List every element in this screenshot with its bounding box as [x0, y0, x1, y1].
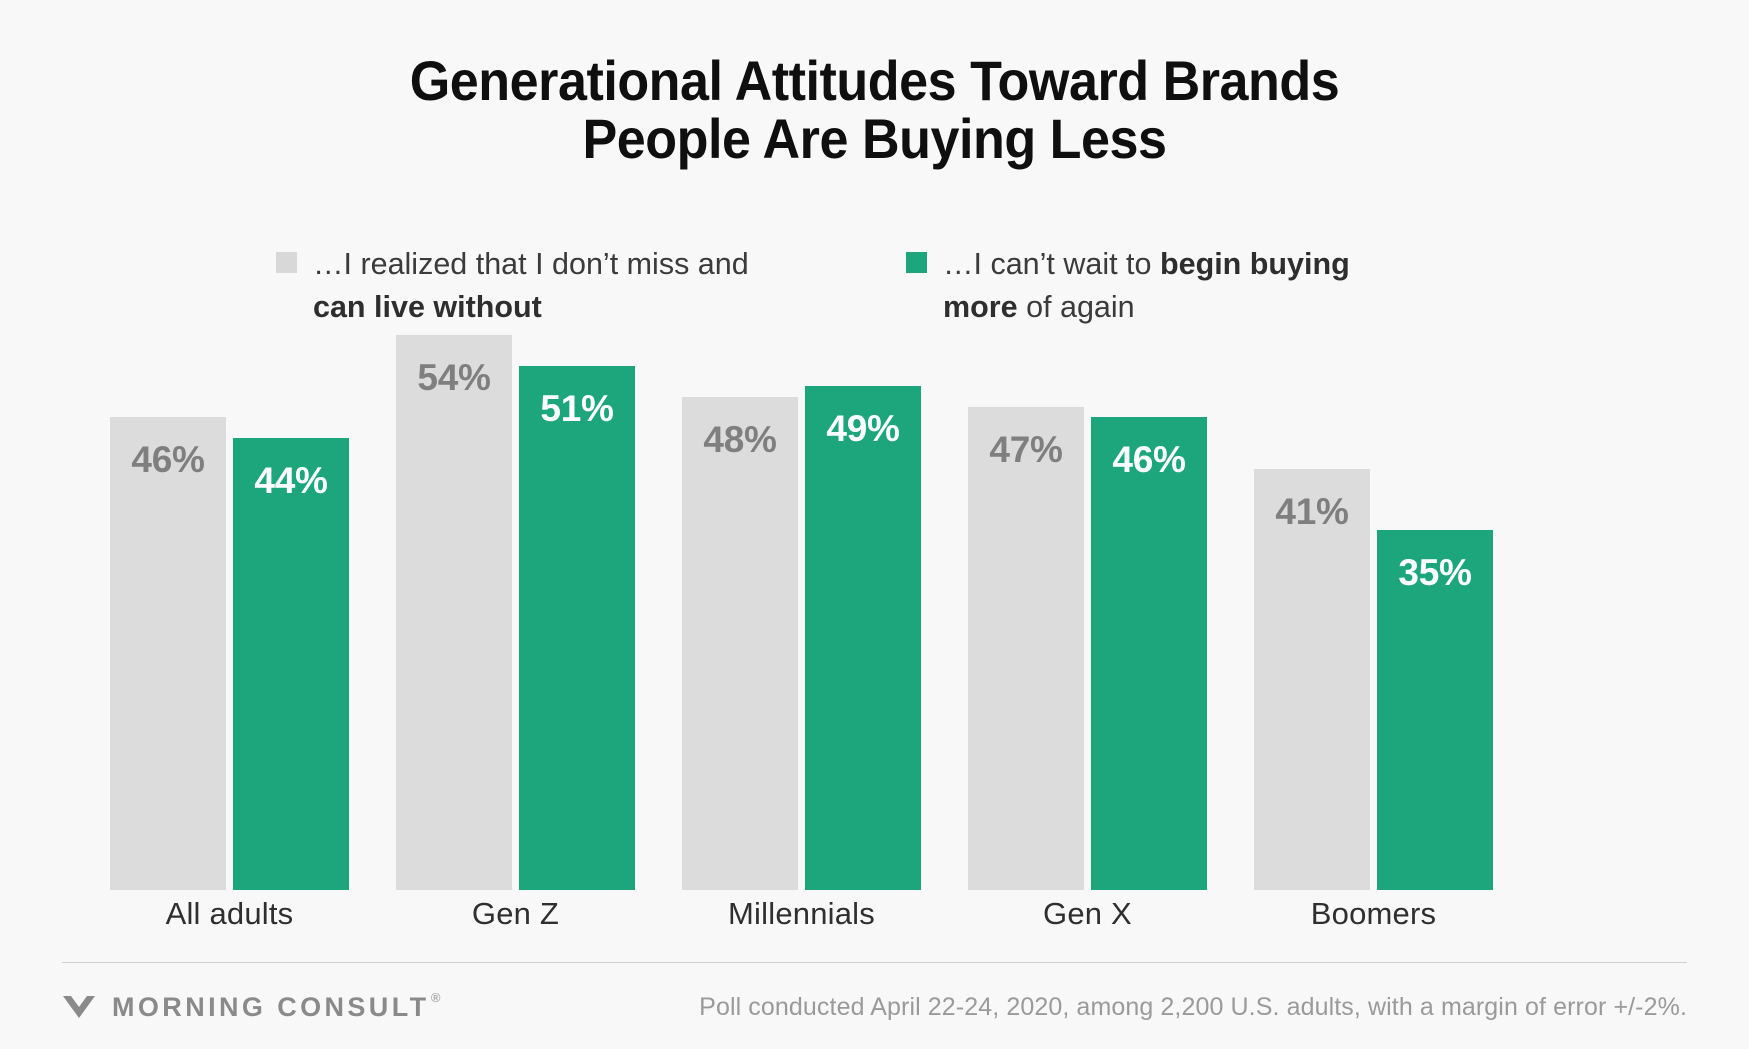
legend-item-gray[interactable]: …I realized that I don’t miss and can li…: [276, 243, 796, 330]
bar-value-label: 44%: [233, 460, 349, 502]
legend-gray-text-part1: …I realized that I don’t miss and: [313, 247, 749, 281]
bar-green[interactable]: 44%: [233, 438, 349, 890]
bar-gray[interactable]: 48%: [682, 397, 798, 890]
bar-gray[interactable]: 46%: [110, 417, 226, 890]
category-label: Gen X: [968, 896, 1207, 932]
legend-item-green[interactable]: …I can’t wait to begin buying more of ag…: [906, 243, 1426, 330]
bar-green[interactable]: 51%: [519, 366, 635, 890]
chart-title-line-1: Generational Attitudes Toward Brands: [61, 52, 1688, 110]
bar-value-label: 48%: [682, 419, 798, 461]
bar-group-all-adults: 46%44%All adults: [110, 330, 349, 890]
legend-swatch-gray-icon: [276, 252, 297, 273]
category-label: Millennials: [682, 896, 921, 932]
bar-value-label: 54%: [396, 357, 512, 399]
legend-swatch-green-icon: [906, 252, 927, 273]
bar-value-label: 46%: [110, 439, 226, 481]
bar-group-gen-z: 54%51%Gen Z: [396, 330, 635, 890]
bar-group-gen-x: 47%46%Gen X: [968, 330, 1207, 890]
legend-gray-text-bold: can live without: [313, 290, 542, 324]
legend-green-text-part1: …I can’t wait to: [943, 247, 1160, 281]
chart-title: Generational Attitudes Toward Brands Peo…: [61, 52, 1688, 168]
chart-footnote: Poll conducted April 22-24, 2020, among …: [699, 993, 1687, 1022]
bar-green[interactable]: 49%: [805, 386, 921, 890]
bar-value-label: 46%: [1091, 439, 1207, 481]
bar-value-label: 47%: [968, 429, 1084, 471]
bar-green[interactable]: 35%: [1377, 530, 1493, 890]
legend-label-green: …I can’t wait to begin buying more of ag…: [943, 243, 1426, 330]
brand-name-text: MORNING CONSULT: [112, 992, 429, 1022]
bar-group-boomers: 41%35%Boomers: [1254, 330, 1493, 890]
bar-value-label: 41%: [1254, 491, 1370, 533]
chart-page: Generational Attitudes Toward Brands Peo…: [0, 0, 1749, 1049]
chart-legend: …I realized that I don’t miss and can li…: [276, 243, 1506, 330]
morning-consult-chevron-icon: [62, 994, 96, 1020]
bar-value-label: 51%: [519, 388, 635, 430]
brand-logo: MORNING CONSULT®: [62, 992, 429, 1023]
legend-green-text-part2: of again: [1018, 290, 1135, 324]
page-title: Generational Attitudes Toward Brands Peo…: [0, 52, 1749, 168]
footer-divider: [62, 962, 1687, 963]
bar-gray[interactable]: 47%: [968, 407, 1084, 890]
bar-green[interactable]: 46%: [1091, 417, 1207, 890]
brand-trademark: ®: [431, 990, 441, 1005]
brand-name: MORNING CONSULT®: [112, 992, 429, 1023]
chart-title-line-2: People Are Buying Less: [61, 110, 1688, 168]
legend-label-gray: …I realized that I don’t miss and can li…: [313, 243, 796, 330]
category-label: Boomers: [1254, 896, 1493, 932]
category-label: Gen Z: [396, 896, 635, 932]
bar-value-label: 35%: [1377, 552, 1493, 594]
bar-chart-plot: 46%44%All adults54%51%Gen Z48%49%Millenn…: [110, 330, 1650, 890]
chart-footer: MORNING CONSULT® Poll conducted April 22…: [62, 985, 1687, 1029]
bar-value-label: 49%: [805, 408, 921, 450]
bar-gray[interactable]: 54%: [396, 335, 512, 890]
bar-gray[interactable]: 41%: [1254, 469, 1370, 890]
category-label: All adults: [110, 896, 349, 932]
bar-group-millennials: 48%49%Millennials: [682, 330, 921, 890]
